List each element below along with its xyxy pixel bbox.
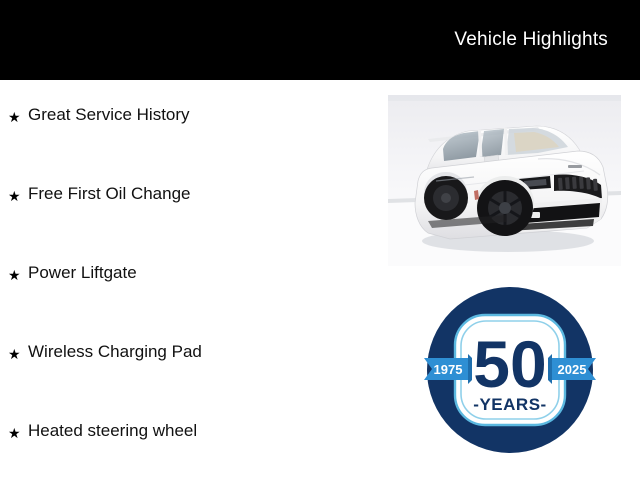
star-icon: ★: [8, 268, 21, 282]
list-item: ★ Great Service History: [0, 98, 370, 177]
star-icon: ★: [8, 189, 21, 203]
anniversary-badge: 1975 2025 50 -YEARS-: [412, 280, 608, 460]
svg-text:2025: 2025: [558, 362, 587, 377]
list-item: ★ Power Liftgate: [0, 256, 370, 335]
star-icon: ★: [8, 110, 21, 124]
header-band: Vehicle Highlights: [0, 0, 640, 80]
vehicle-highlights-list: ★ Great Service History ★ Free First Oil…: [0, 98, 370, 493]
highlight-label: Power Liftgate: [28, 256, 137, 284]
badge-number: 50: [473, 327, 546, 401]
page-title: Vehicle Highlights: [454, 28, 608, 52]
star-icon: ★: [8, 347, 21, 361]
svg-text:1975: 1975: [434, 362, 463, 377]
vehicle-photo: [388, 95, 621, 266]
highlight-label: Great Service History: [28, 98, 190, 126]
list-item: ★ Free First Oil Change: [0, 177, 370, 256]
list-item: ★ Wireless Charging Pad: [0, 335, 370, 414]
badge-years-label: -YEARS-: [473, 395, 546, 414]
highlight-label: Heated steering wheel: [28, 414, 197, 442]
highlight-label: Wireless Charging Pad: [28, 335, 202, 363]
slide-root: Vehicle Highlights ★ Great Service Histo…: [0, 0, 640, 480]
list-item: ★ Heated steering wheel: [0, 414, 370, 493]
highlight-label: Free First Oil Change: [28, 177, 191, 205]
star-icon: ★: [8, 426, 21, 440]
